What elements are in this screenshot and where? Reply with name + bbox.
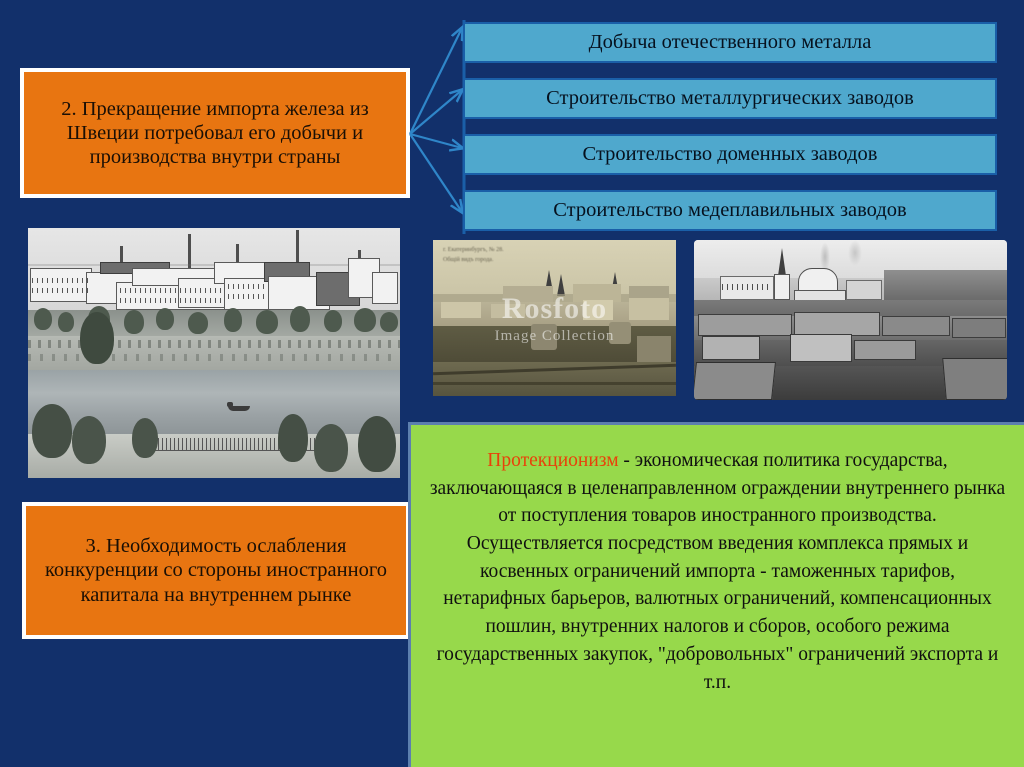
consequence-box-3-label: Строительство доменных заводов [583,143,878,166]
consequence-box-1: Добыча отечественного металла [463,22,997,63]
cause-box-3: 3. Необходимость ослабления конкуренции … [22,502,410,639]
cause-box-2: 2. Прекращение импорта железа из Швеции … [20,68,410,198]
cause-box-2-label: 2. Прекращение импорта железа из Швеции … [24,95,406,172]
definition-panel: Протекционизм - экономическая политика г… [408,422,1024,767]
consequence-box-3: Строительство доменных заводов [463,134,997,175]
factory-engraving-photo [28,228,400,478]
cause-box-3-label: 3. Необходимость ослабления конкуренции … [26,532,406,609]
consequence-box-2: Строительство металлургических заводов [463,78,997,119]
town-panorama-photo [694,240,1007,400]
consequence-box-1-label: Добыча отечественного металла [589,31,872,54]
definition-body: - экономическая политика государства, за… [430,450,1005,693]
consequence-box-4: Строительство медеплавильных заводов [463,190,997,231]
slide-canvas: 2. Прекращение импорта железа из Швеции … [0,0,1024,767]
postcard-caption: г. Екатеринбургъ, № 28.Общiй видъ города… [443,246,504,265]
definition-term: Протекционизм [487,450,618,471]
consequence-box-2-label: Строительство металлургических заводов [546,87,914,110]
consequence-box-4-label: Строительство медеплавильных заводов [553,199,906,222]
city-postcard-photo: г. Екатеринбургъ, № 28.Общiй видъ города… [433,240,676,396]
